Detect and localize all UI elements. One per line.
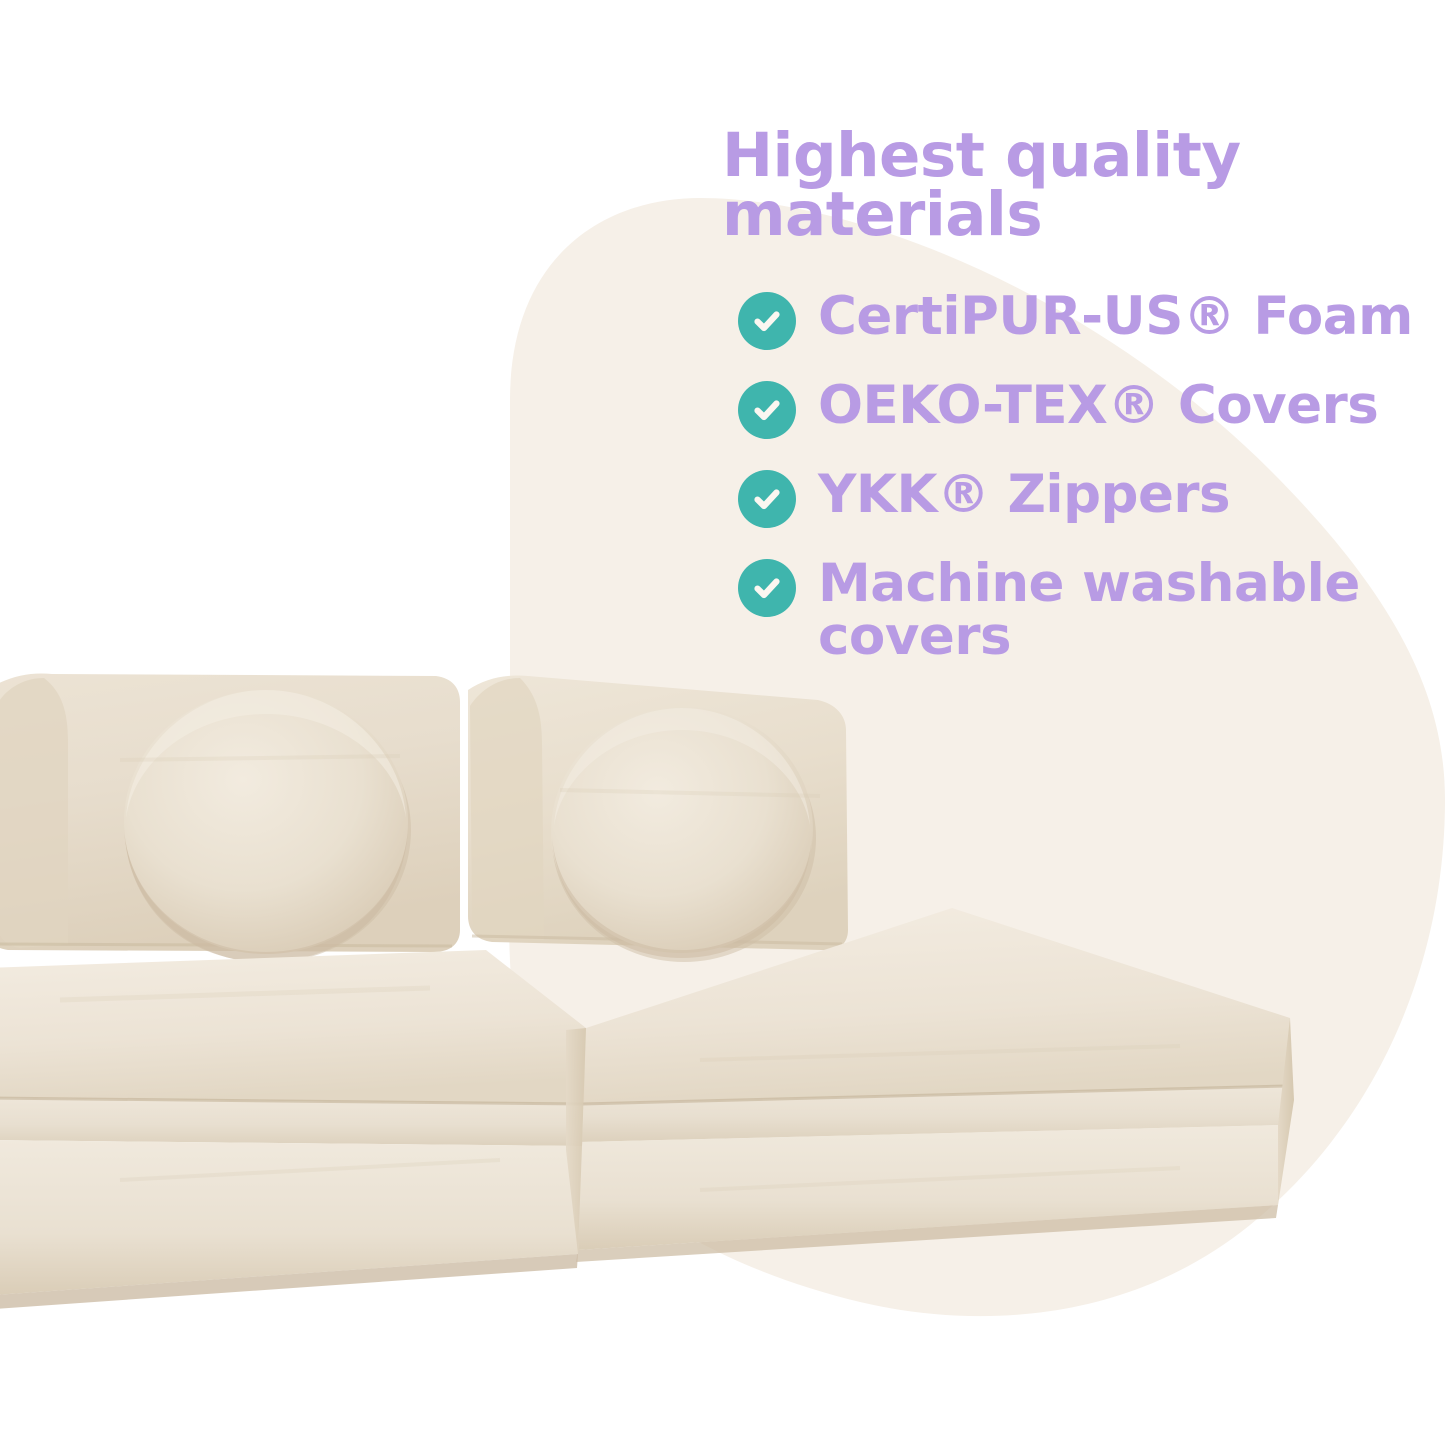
feature-label: Machine washable covers [818, 557, 1418, 663]
list-item: CertiPUR-US® Foam [738, 290, 1438, 350]
check-circle-icon [738, 470, 796, 528]
check-circle-icon [738, 292, 796, 350]
check-circle-icon [738, 381, 796, 439]
list-item: OEKO-TEX® Covers [738, 379, 1438, 439]
check-circle-icon [738, 559, 796, 617]
feature-label: YKK® Zippers [818, 468, 1230, 521]
marketing-image-canvas: Highest quality materials CertiPUR-US® F… [0, 0, 1445, 1445]
feature-label: CertiPUR-US® Foam [818, 290, 1413, 343]
left-round-pillow [124, 690, 411, 963]
marketing-copy-block: Highest quality materials CertiPUR-US® F… [722, 126, 1422, 244]
list-item: Machine washable covers [738, 557, 1438, 663]
feature-label: OEKO-TEX® Covers [818, 379, 1378, 432]
feature-list: CertiPUR-US® Foam OEKO-TEX® Covers YKK® … [738, 290, 1438, 663]
page-title: Highest quality materials [722, 126, 1422, 244]
list-item: YKK® Zippers [738, 468, 1438, 528]
left-seat-cushion [0, 950, 586, 1146]
